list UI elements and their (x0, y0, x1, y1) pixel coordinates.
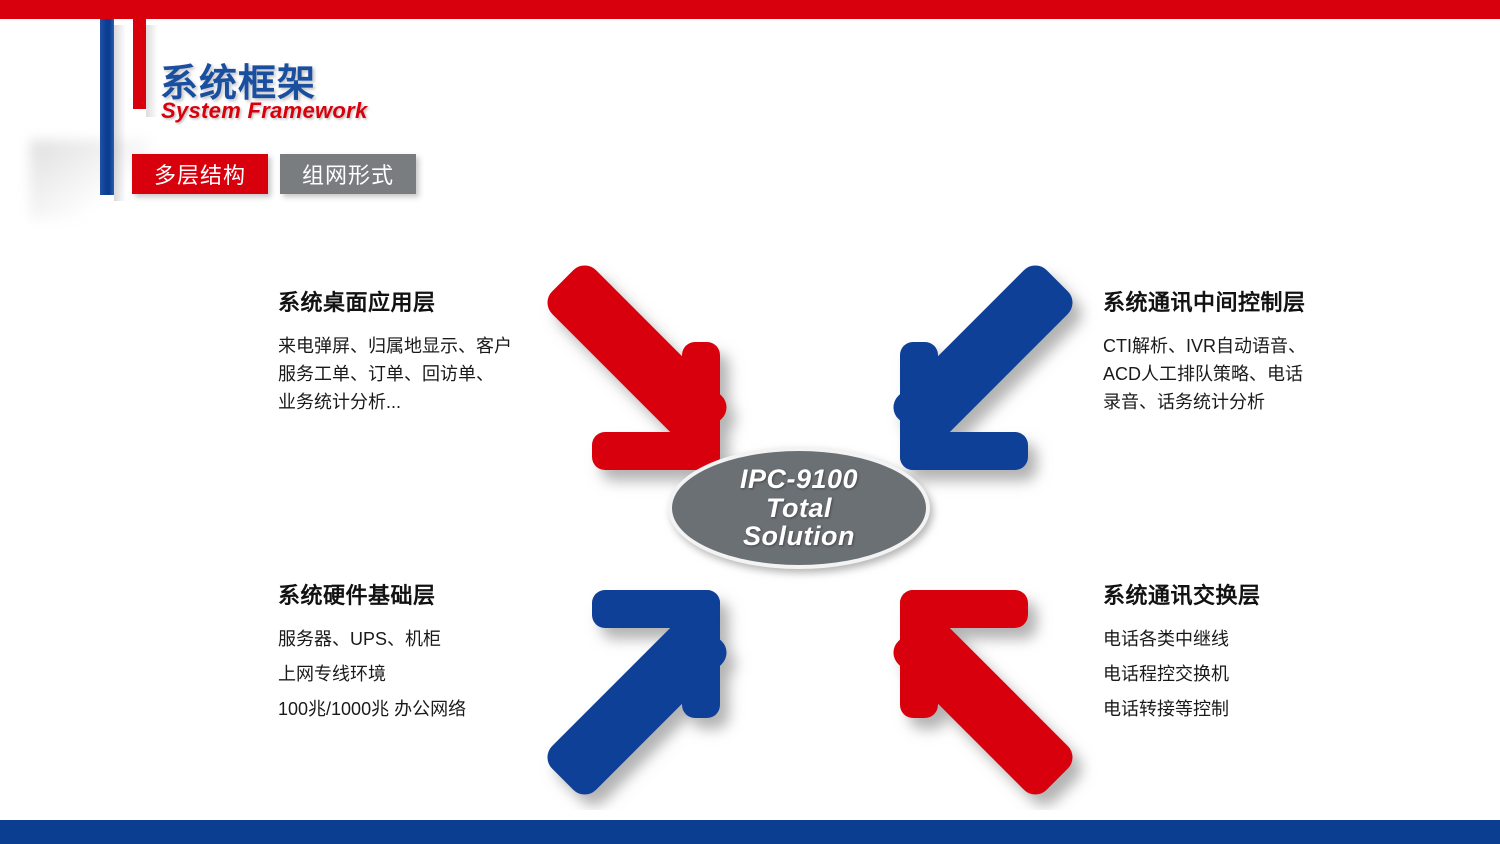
tab-network-topology[interactable]: 组网形式 (280, 154, 416, 194)
block-line: 服务器、UPS、机柜 (278, 622, 466, 657)
block-heading: 系统硬件基础层 (278, 578, 466, 610)
block-line: 电话程控交换机 (1103, 657, 1261, 692)
block-heading: 系统通讯中间控制层 (1103, 285, 1306, 317)
tab-multilayer-structure[interactable]: 多层结构 (132, 154, 268, 194)
block-lines: 电话各类中继线 电话程控交换机 电话转接等控制 (1103, 622, 1261, 727)
tab-bar: 多层结构 组网形式 (132, 154, 416, 194)
block-line: CTI解析、IVR自动语音、 (1103, 333, 1306, 361)
header-red-vertical-bar (133, 19, 146, 109)
block-lines: 服务器、UPS、机柜 上网专线环境 100兆/1000兆 办公网络 (278, 622, 466, 727)
block-desktop-application-layer: 系统桌面应用层 来电弹屏、归属地显示、客户 服务工单、订单、回访单、 业务统计分… (278, 285, 512, 417)
block-communication-switching-layer: 系统通讯交换层 电话各类中继线 电话程控交换机 电话转接等控制 (1103, 578, 1261, 727)
block-line: 100兆/1000兆 办公网络 (278, 692, 466, 727)
block-line: ACD人工排队策略、电话 (1103, 361, 1306, 389)
block-line: 上网专线环境 (278, 657, 466, 692)
arrow-bottom-left-blue (541, 590, 733, 801)
block-heading: 系统通讯交换层 (1103, 578, 1261, 610)
block-lines: 来电弹屏、归属地显示、客户 服务工单、订单、回访单、 业务统计分析... (278, 333, 512, 417)
block-line: 录音、话务统计分析 (1103, 389, 1306, 417)
center-label-solution: Solution (743, 522, 855, 551)
block-line: 服务工单、订单、回访单、 (278, 361, 512, 389)
arrow-top-right-blue (887, 259, 1079, 470)
bottom-accent-bar (0, 820, 1500, 844)
block-line: 电话各类中继线 (1103, 622, 1261, 657)
block-line: 电话转接等控制 (1103, 692, 1261, 727)
block-line: 来电弹屏、归属地显示、客户 (278, 333, 512, 361)
arrow-top-left-red (541, 259, 733, 470)
header-blue-vertical-bar (100, 19, 114, 195)
block-hardware-foundation-layer: 系统硬件基础层 服务器、UPS、机柜 上网专线环境 100兆/1000兆 办公网… (278, 578, 466, 727)
top-accent-bar (0, 0, 1500, 19)
center-product-name: IPC-9100 (740, 465, 858, 494)
block-lines: CTI解析、IVR自动语音、 ACD人工排队策略、电话 录音、话务统计分析 (1103, 333, 1306, 417)
center-solution-badge: IPC-9100 Total Solution (668, 447, 930, 569)
arrow-bottom-right-red (887, 590, 1079, 801)
center-label-total: Total (766, 494, 832, 523)
block-heading: 系统桌面应用层 (278, 285, 512, 317)
page-title-en: System Framework (161, 98, 368, 124)
block-line: 业务统计分析... (278, 389, 512, 417)
block-communication-middle-control-layer: 系统通讯中间控制层 CTI解析、IVR自动语音、 ACD人工排队策略、电话 录音… (1103, 285, 1306, 417)
